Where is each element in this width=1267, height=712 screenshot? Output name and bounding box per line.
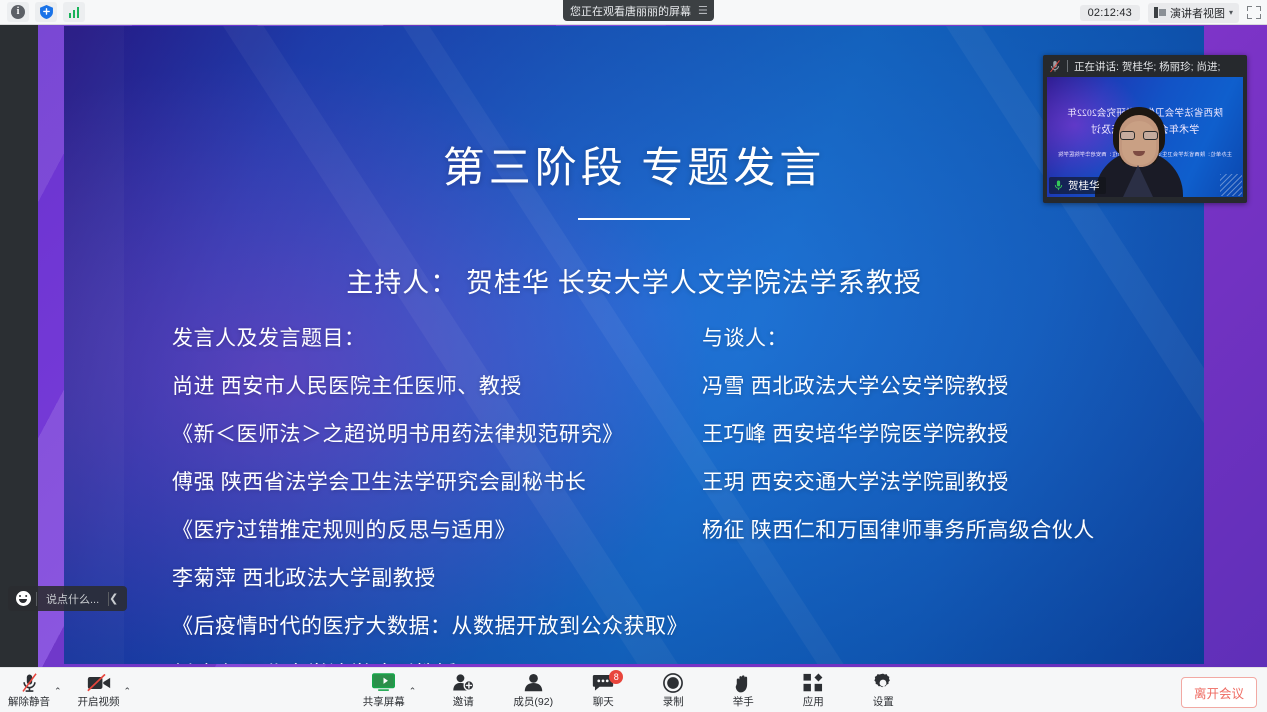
screen-share-notice[interactable]: 您正在观看唐丽丽的屏幕 ☰ (563, 0, 714, 21)
info-button[interactable]: i (7, 2, 29, 22)
share-screen-label: 共享屏幕 (363, 694, 405, 709)
record-button[interactable]: 录制 (650, 668, 696, 712)
share-options-chevron-icon[interactable]: ⌃ (409, 686, 417, 697)
smiley-icon (16, 591, 31, 606)
title-bar: i 您正在观看唐丽丽的屏幕 ☰ 02:12:43 演讲者视图 (0, 0, 1267, 25)
active-speaker-thumbnail[interactable]: 正在讲话: 贺桂华; 杨丽珍; 尚进; 陕西省法学会卫生法学研究会2022年 学… (1043, 55, 1247, 203)
shared-slide: 第三阶段 专题发言 主持人： 贺桂华 长安大学人文学院法学系教授 发言人及发言题… (64, 26, 1204, 664)
gear-icon (873, 673, 893, 693)
divider (1067, 60, 1068, 72)
hand-icon (734, 673, 753, 693)
microphone-icon (1053, 179, 1064, 192)
meeting-toolbar: 解除静音 ⌃ 开启视频 ⌃ (0, 667, 1267, 712)
leave-meeting-button[interactable]: 离开会议 (1181, 677, 1257, 708)
meeting-window: i 您正在观看唐丽丽的屏幕 ☰ 02:12:43 演讲者视图 (0, 0, 1267, 712)
speaking-label: 正在讲话: 贺桂华; 杨丽珍; 尚进; (1074, 59, 1220, 74)
exit-fullscreen-icon[interactable] (1247, 6, 1261, 19)
emoji-picker-button[interactable] (10, 586, 36, 611)
discussant-line: 杨征 陕西仁和万国律师事务所高级合伙人 (702, 514, 1172, 544)
speaker-line: 李菊萍 西北政法大学副教授 (172, 562, 732, 592)
view-mode-selector[interactable]: 演讲者视图 ▾ (1148, 3, 1239, 23)
record-label: 录制 (663, 694, 684, 709)
resize-handle[interactable] (1220, 174, 1242, 196)
participant-silhouette (1093, 107, 1185, 197)
slide-title: 第三阶段 专题发言 (64, 134, 1204, 195)
speaker-line: 刘建仓 西北大学法学院副教授 (172, 658, 732, 664)
add-person-icon (452, 673, 474, 693)
apps-button[interactable]: 应用 (790, 668, 836, 712)
settings-button[interactable]: 设置 (860, 668, 906, 712)
quick-chat-input[interactable]: 说点什么... (37, 591, 108, 607)
invite-button[interactable]: 邀请 (440, 668, 486, 712)
settings-label: 设置 (873, 694, 894, 709)
participants-label: 成员(92) (513, 694, 553, 709)
participant-name-badge: 贺桂华 (1049, 177, 1106, 194)
title-bar-right-group: 02:12:43 演讲者视图 ▾ (1080, 0, 1261, 25)
share-screen-icon (372, 673, 395, 693)
screen-share-notice-label: 您正在观看唐丽丽的屏幕 (570, 3, 691, 19)
signal-bars-icon (69, 6, 80, 18)
view-mode-label: 演讲者视图 (1170, 5, 1225, 21)
speaker-line: 尚进 西安市人民医院主任医师、教授 (172, 370, 732, 400)
chat-unread-badge: 8 (609, 670, 623, 684)
toolbar-center-group: 共享屏幕 ⌃ 邀请 (0, 668, 1267, 712)
title-divider (578, 218, 690, 220)
speaker-line: 傅强 陕西省法学会卫生法学研究会副秘书长 (172, 466, 732, 496)
record-circle-icon (663, 673, 683, 693)
discussants-column: 与谈人： 冯雪 西北政法大学公安学院教授 王巧峰 西安培华学院医学院教授 王玥 … (702, 322, 1172, 562)
apps-label: 应用 (803, 694, 824, 709)
video-feed: 陕西省法学会卫生法学研究会2022年 学术年会暨 " " 论坛及讨 主办单位：陕… (1047, 77, 1243, 197)
reaction-bar[interactable]: 说点什么... ❮ (8, 586, 127, 611)
raise-hand-label: 举手 (733, 694, 754, 709)
apps-grid-icon (803, 673, 823, 693)
speaker-line: 《医疗过错推定规则的反思与适用》 (172, 514, 732, 544)
speakers-heading: 发言人及发言题目： (172, 322, 732, 352)
share-screen-button[interactable]: 共享屏幕 (361, 668, 407, 712)
title-bar-icon-group: i (0, 2, 85, 22)
info-icon: i (11, 5, 25, 19)
discussant-line: 冯雪 西北政法大学公安学院教授 (702, 370, 1172, 400)
person-icon (523, 673, 544, 693)
speakers-column: 发言人及发言题目： 尚进 西安市人民医院主任医师、教授 《新＜医师法＞之超说明书… (172, 322, 732, 664)
microphone-muted-icon (1049, 60, 1061, 73)
meeting-timer: 02:12:43 (1080, 5, 1140, 21)
shield-icon (40, 5, 53, 19)
chevron-down-icon: ▾ (1229, 8, 1233, 17)
discussant-line: 王巧峰 西安培华学院医学院教授 (702, 418, 1172, 448)
participant-name-label: 贺桂华 (1068, 178, 1100, 193)
speaker-line: 《后疫情时代的医疗大数据：从数据开放到公众获取》 (172, 610, 732, 640)
participants-button[interactable]: 成员(92) (510, 668, 556, 712)
slide-host-line: 主持人： 贺桂华 长安大学人文学院法学系教授 (64, 261, 1204, 300)
discussants-heading: 与谈人： (702, 322, 1172, 352)
security-button[interactable] (35, 2, 57, 22)
network-stats-button[interactable] (63, 2, 85, 22)
speaker-view-icon (1154, 7, 1166, 18)
chat-button[interactable]: 8 聊天 (580, 668, 626, 712)
discussant-line: 王玥 西安交通大学法学院副教授 (702, 466, 1172, 496)
chat-label: 聊天 (593, 694, 614, 709)
speaker-line: 《新＜医师法＞之超说明书用药法律规范研究》 (172, 418, 732, 448)
invite-label: 邀请 (453, 694, 474, 709)
collapse-icon[interactable]: ❮ (109, 592, 125, 605)
share-options-icon[interactable]: ☰ (698, 4, 707, 17)
raise-hand-button[interactable]: 举手 (720, 668, 766, 712)
speaking-indicator: 正在讲话: 贺桂华; 杨丽珍; 尚进; (1043, 55, 1247, 77)
